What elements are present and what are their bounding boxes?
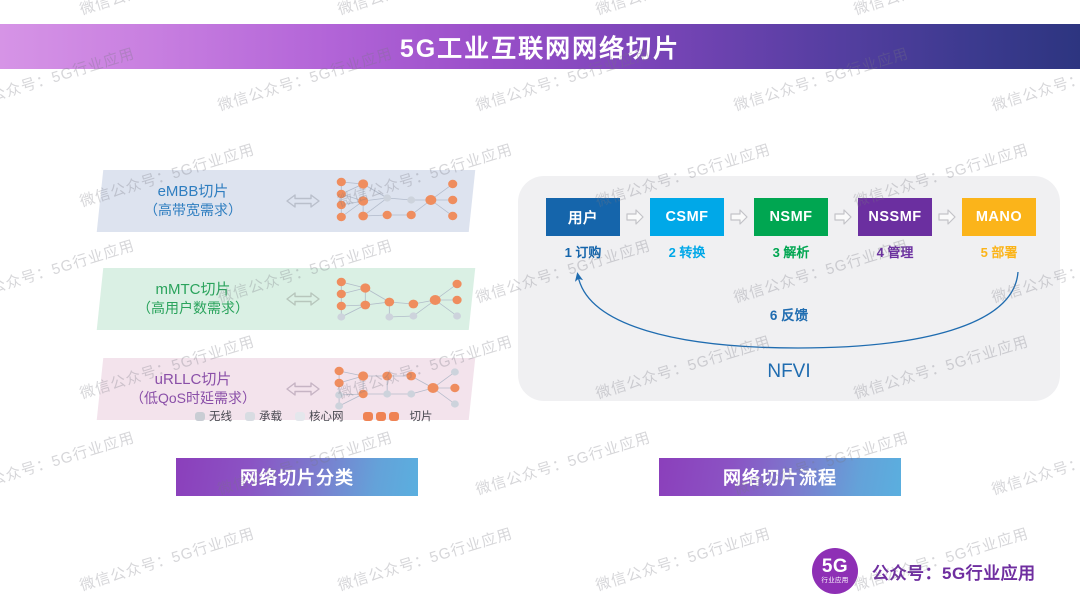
legend-item-wireless: 无线: [195, 408, 232, 424]
legend-swatch-bearer: [245, 412, 255, 421]
feedback-label: 6 反馈: [518, 304, 1060, 324]
watermark-text: 微信公众号：5G行业应用: [335, 522, 515, 595]
double-arrow-icon: [280, 379, 326, 399]
watermark-text: 微信公众号：5G行业应用: [335, 0, 515, 20]
slice-name-urllc: uRLLC切片: [106, 371, 280, 390]
watermark-text: 微信公众号：5G行业应用: [593, 0, 773, 20]
slice-label-embb: eMBB切片 （高带宽需求）: [100, 183, 280, 219]
legend-label-slice: 切片: [410, 408, 433, 424]
legend-label-core: 核心网: [309, 408, 344, 424]
legend-swatch-core: [295, 412, 305, 421]
caption-slice-flow: 网络切片流程: [659, 458, 901, 496]
slice-requirement-urllc: （低QoS时延需求）: [106, 390, 280, 408]
slice-name-mmtc: mMTC切片: [106, 281, 280, 300]
legend-swatch-wireless: [195, 412, 205, 421]
caption-right-text: 网络切片流程: [723, 464, 837, 490]
watermark-text: 微信公众号：5G行业应用: [593, 522, 773, 595]
brand-logo-icon: 5G 行业应用: [812, 548, 858, 594]
network-legend: 无线 承载 核心网 切片: [195, 408, 433, 424]
slice-band-embb: eMBB切片 （高带宽需求）: [97, 170, 476, 232]
watermark-text: 微信公众号：5G行业应用: [77, 0, 257, 20]
slice-requirement-mmtc: （高用户数需求）: [106, 300, 280, 318]
brand-footer: 5G 行业应用 公众号：5G行业应用: [812, 548, 1036, 594]
slice-label-urllc: uRLLC切片 （低QoS时延需求）: [100, 371, 280, 407]
slide-title-bar: 5G工业互联网网络切片: [0, 24, 1080, 69]
watermark-text: 微信公众号：5G行业应用: [989, 426, 1080, 499]
network-graph-embb: [326, 174, 468, 228]
nfvi-label: NFVI: [518, 361, 1060, 383]
legend-item-bearer: 承载: [245, 408, 282, 424]
legend-swatch-slice-3: [389, 412, 399, 421]
double-arrow-icon: [280, 289, 326, 309]
caption-left-text: 网络切片分类: [240, 464, 354, 490]
watermark-text: 微信公众号：5G行业应用: [851, 0, 1031, 20]
network-graph-mmtc: [326, 272, 468, 326]
slice-requirement-embb: （高带宽需求）: [106, 202, 280, 220]
legend-label-bearer: 承载: [259, 408, 282, 424]
legend-item-core: 核心网: [295, 408, 344, 424]
watermark-text: 微信公众号：5G行业应用: [77, 522, 257, 595]
caption-slice-classification: 网络切片分类: [176, 458, 418, 496]
brand-account-text: 公众号：5G行业应用: [872, 559, 1036, 584]
page-title: 5G工业互联网网络切片: [0, 29, 1080, 65]
legend-label-wireless: 无线: [209, 408, 232, 424]
slide-canvas: 5G工业互联网网络切片 eMBB切片 （高带宽需求）: [0, 0, 1080, 608]
brand-logo-sub: 行业应用: [821, 578, 848, 585]
double-arrow-icon: [280, 191, 326, 211]
slice-band-mmtc: mMTC切片 （高用户数需求）: [97, 268, 476, 330]
brand-logo-main: 5G: [822, 557, 848, 576]
slice-classification-panel: eMBB切片 （高带宽需求）: [100, 150, 510, 450]
legend-swatch-slice-group: [363, 412, 399, 421]
legend-swatch-slice-2: [376, 412, 386, 421]
slice-name-embb: eMBB切片: [106, 183, 280, 202]
slice-label-mmtc: mMTC切片 （高用户数需求）: [100, 281, 280, 317]
legend-swatch-slice-1: [363, 412, 373, 421]
nfvi-card: 用户 CSMF NSMF NSSMF MANO 1 订购 2 转换 3 解析: [518, 176, 1060, 401]
